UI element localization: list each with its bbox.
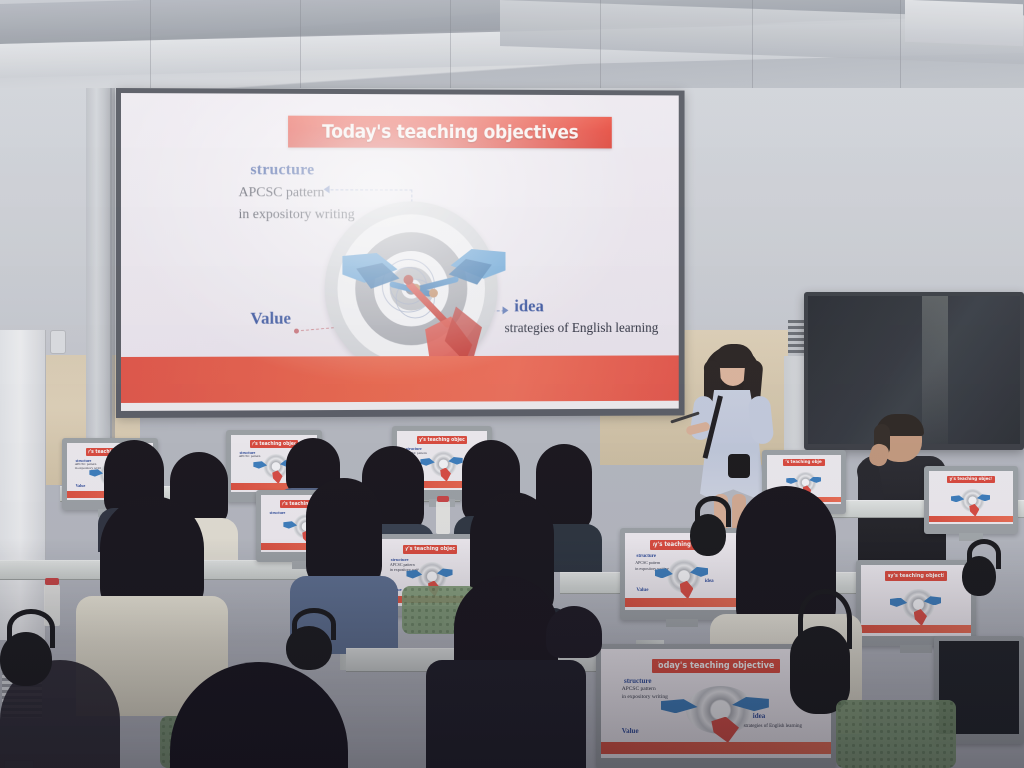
student-body (426, 660, 586, 768)
mini-label-structure: structure (270, 510, 286, 515)
headset-icon[interactable] (962, 556, 996, 596)
mini-slide-footer (929, 516, 1013, 522)
mini-label-value: Value (636, 588, 648, 593)
monitor-stand (666, 619, 698, 627)
classroom-photo: Today's teaching objectives structure AP… (0, 0, 1024, 768)
mini-slide-title-bar: Today's teaching objectives (417, 436, 467, 444)
mini-slide: Today's teaching objectives (861, 565, 971, 636)
mini-slide-title: Today's teaching objectives (419, 436, 464, 444)
monitor-stand (900, 645, 931, 653)
ceiling-seam (150, 0, 151, 95)
mini-slide-title-bar: Today's teaching objectives (783, 459, 824, 465)
student (440, 576, 570, 768)
headset-icon[interactable] (286, 626, 332, 670)
mini-slide-title: Today's teaching objectives (888, 571, 943, 580)
mini-slide-title: Today's teaching objectives (950, 476, 992, 483)
mini-slide-title-bar: Today's teaching objectives (885, 571, 947, 580)
ceiling-seam (752, 0, 753, 95)
slide-label-structure: structure (250, 161, 314, 179)
ceiling-vent (905, 0, 1023, 46)
monitor-screen: Today's teaching objectives (929, 471, 1013, 524)
headset-icon[interactable] (690, 514, 726, 556)
mini-sub1: APCSC pattern (622, 686, 656, 692)
projection-screen-frame: Today's teaching objectives structure AP… (116, 88, 685, 418)
monitor[interactable]: Today's teaching objectives (924, 466, 1018, 534)
mini-slide-title-bar: Today's teaching objectives (652, 659, 781, 673)
mini-slide-title: Today's teaching objectives (785, 459, 822, 465)
ceiling-seam (450, 0, 451, 95)
connector-value-dot-icon (294, 329, 299, 334)
mini-label-structure: structure (624, 677, 651, 685)
mini-sub2: in expository writing (622, 694, 668, 700)
mini-slide-title: Today's teaching objectives (405, 545, 454, 554)
mini-label-value: Value (622, 727, 639, 735)
mini-sub1: APCSC pattern (635, 560, 660, 565)
mini-slide-title-bar: Today's teaching objectives (947, 476, 994, 483)
monitor-screen: Today's teaching objectives (861, 565, 971, 636)
ceiling (0, 0, 1024, 95)
mini-idea-sub: strategies of English learning (744, 724, 802, 729)
slide-footer-band (121, 355, 679, 403)
mini-label-structure: structure (391, 557, 409, 562)
mini-slide-footer (601, 742, 831, 754)
mini-slide-title: Today's teaching objectives (658, 659, 774, 673)
headset-icon[interactable] (0, 632, 52, 686)
student-hair (306, 478, 382, 588)
monitor[interactable]: Today's teaching objectives (856, 560, 976, 646)
student (306, 478, 382, 602)
air-conditioner-unit (0, 330, 46, 640)
slide-label-value: Value (250, 309, 291, 329)
student-hair (546, 606, 602, 658)
mini-label-value: Value (76, 483, 86, 488)
projection-screen: Today's teaching objectives structure AP… (121, 93, 679, 411)
dartboard-target-graphic (325, 201, 498, 376)
connector-structure-horizontal (326, 189, 413, 190)
ceiling-seam (600, 0, 601, 95)
student (546, 606, 602, 672)
water-bottle (436, 500, 450, 534)
slide-title-bar: Today's teaching objectives (288, 116, 612, 149)
student-hair (170, 662, 348, 768)
wall-pillar (86, 88, 112, 488)
ceiling-seam (900, 0, 901, 95)
slide-bottom-edge (121, 401, 679, 411)
student-ponytail (726, 486, 746, 506)
mini-label-structure: structure (636, 554, 656, 559)
student (100, 496, 204, 646)
chair (836, 700, 956, 768)
mini-label-idea: idea (705, 579, 714, 584)
student (890, 428, 942, 468)
slide-structure-sub-line-1: APCSC pattern (238, 185, 324, 201)
mini-label-idea: idea (753, 712, 765, 720)
water-bottle-cap (437, 496, 449, 502)
water-bottle-cap (45, 578, 59, 585)
mini-sub1: APCSC pattern (239, 454, 261, 458)
presenter-sleeve-right (748, 395, 775, 445)
student (170, 662, 348, 768)
mini-slide-footer (625, 598, 739, 606)
mini-slide-title-bar: Today's teaching objectives (403, 545, 458, 554)
slide-idea-sub-line: strategies of English learning (505, 320, 659, 336)
mini-slide: Today's teaching objectives (929, 471, 1013, 524)
mini-slide-footer (861, 625, 971, 633)
ceiling-seam (300, 0, 301, 95)
presenter-crossbody-bag (728, 454, 750, 478)
connector-structure-arrow-icon (324, 185, 330, 193)
wall-sensor (50, 330, 66, 354)
slide-title: Today's teaching objectives (322, 121, 578, 144)
